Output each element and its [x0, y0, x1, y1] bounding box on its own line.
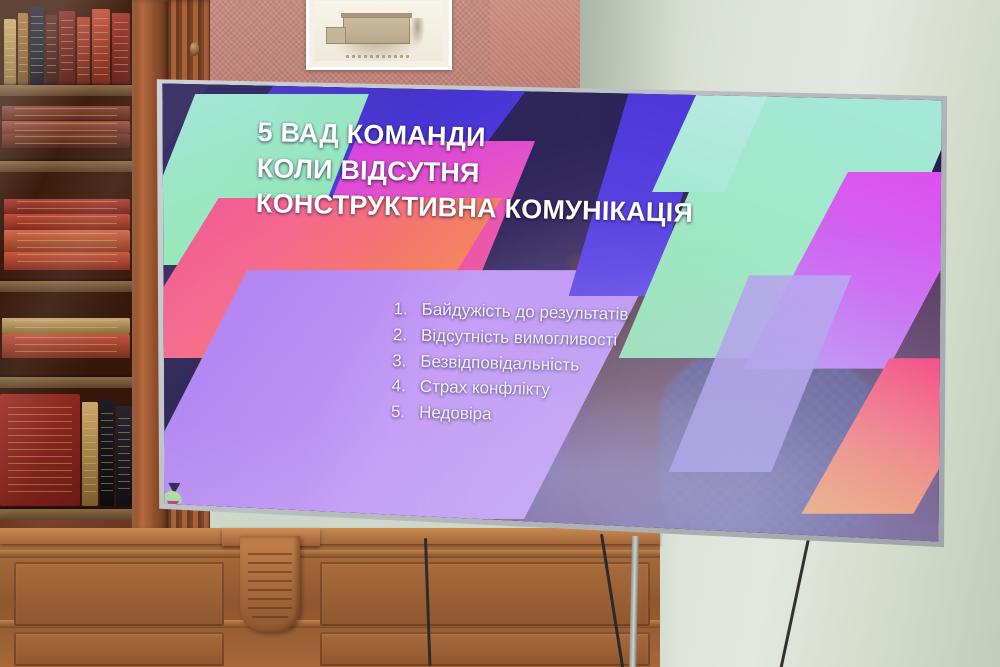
- cabinet-panel: [14, 562, 224, 626]
- cabinet-panel: [320, 632, 650, 666]
- presentation-room-photo: 5 ВАД КОМАНДИ КОЛИ ВІДСУТНЯ КОНСТРУКТИВН…: [0, 0, 1000, 667]
- bookshelf-row: [0, 96, 132, 172]
- bookcase-glass-door: [0, 0, 132, 520]
- cabinet-panel: [320, 562, 650, 626]
- sketch-tree: [410, 18, 425, 47]
- slide-numbered-list: 1. Байдужість до результатів 2. Відсутні…: [387, 296, 629, 431]
- list-item-number: 3.: [388, 348, 407, 374]
- slide-title: 5 ВАД КОМАНДИ КОЛИ ВІДСУТНЯ КОНСТРУКТИВН…: [256, 115, 695, 232]
- bookcase-knob: [190, 42, 199, 56]
- list-item-label: Страх конфлікту: [419, 374, 550, 403]
- sketch-caption: [346, 55, 413, 58]
- list-item-label: Безвідповідальність: [420, 348, 579, 378]
- presentation-slide: 5 ВАД КОМАНДИ КОЛИ ВІДСУТНЯ КОНСТРУКТИВН…: [152, 72, 952, 552]
- sketch-house: [343, 17, 410, 45]
- tv-screen[interactable]: 5 ВАД КОМАНДИ КОЛИ ВІДСУТНЯ КОНСТРУКТИВН…: [152, 72, 952, 552]
- list-item-number: 2.: [388, 322, 407, 348]
- cabinet-panel: [14, 632, 224, 666]
- list-item-number: 1.: [389, 296, 408, 322]
- bookshelf-row: [0, 172, 132, 292]
- framed-architectural-sketch: [306, 0, 452, 70]
- list-item-label: Недовіра: [419, 400, 492, 428]
- list-item-number: 5.: [387, 399, 406, 425]
- bookshelf-row: [0, 0, 132, 96]
- wall-mounted-television[interactable]: 5 ВАД КОМАНДИ КОЛИ ВІДСУТНЯ КОНСТРУКТИВН…: [152, 72, 952, 552]
- bookshelf-row: [0, 388, 132, 520]
- list-item-number: 4.: [387, 374, 406, 400]
- sketch-paper: [315, 1, 443, 61]
- bookshelf-row: [0, 292, 132, 388]
